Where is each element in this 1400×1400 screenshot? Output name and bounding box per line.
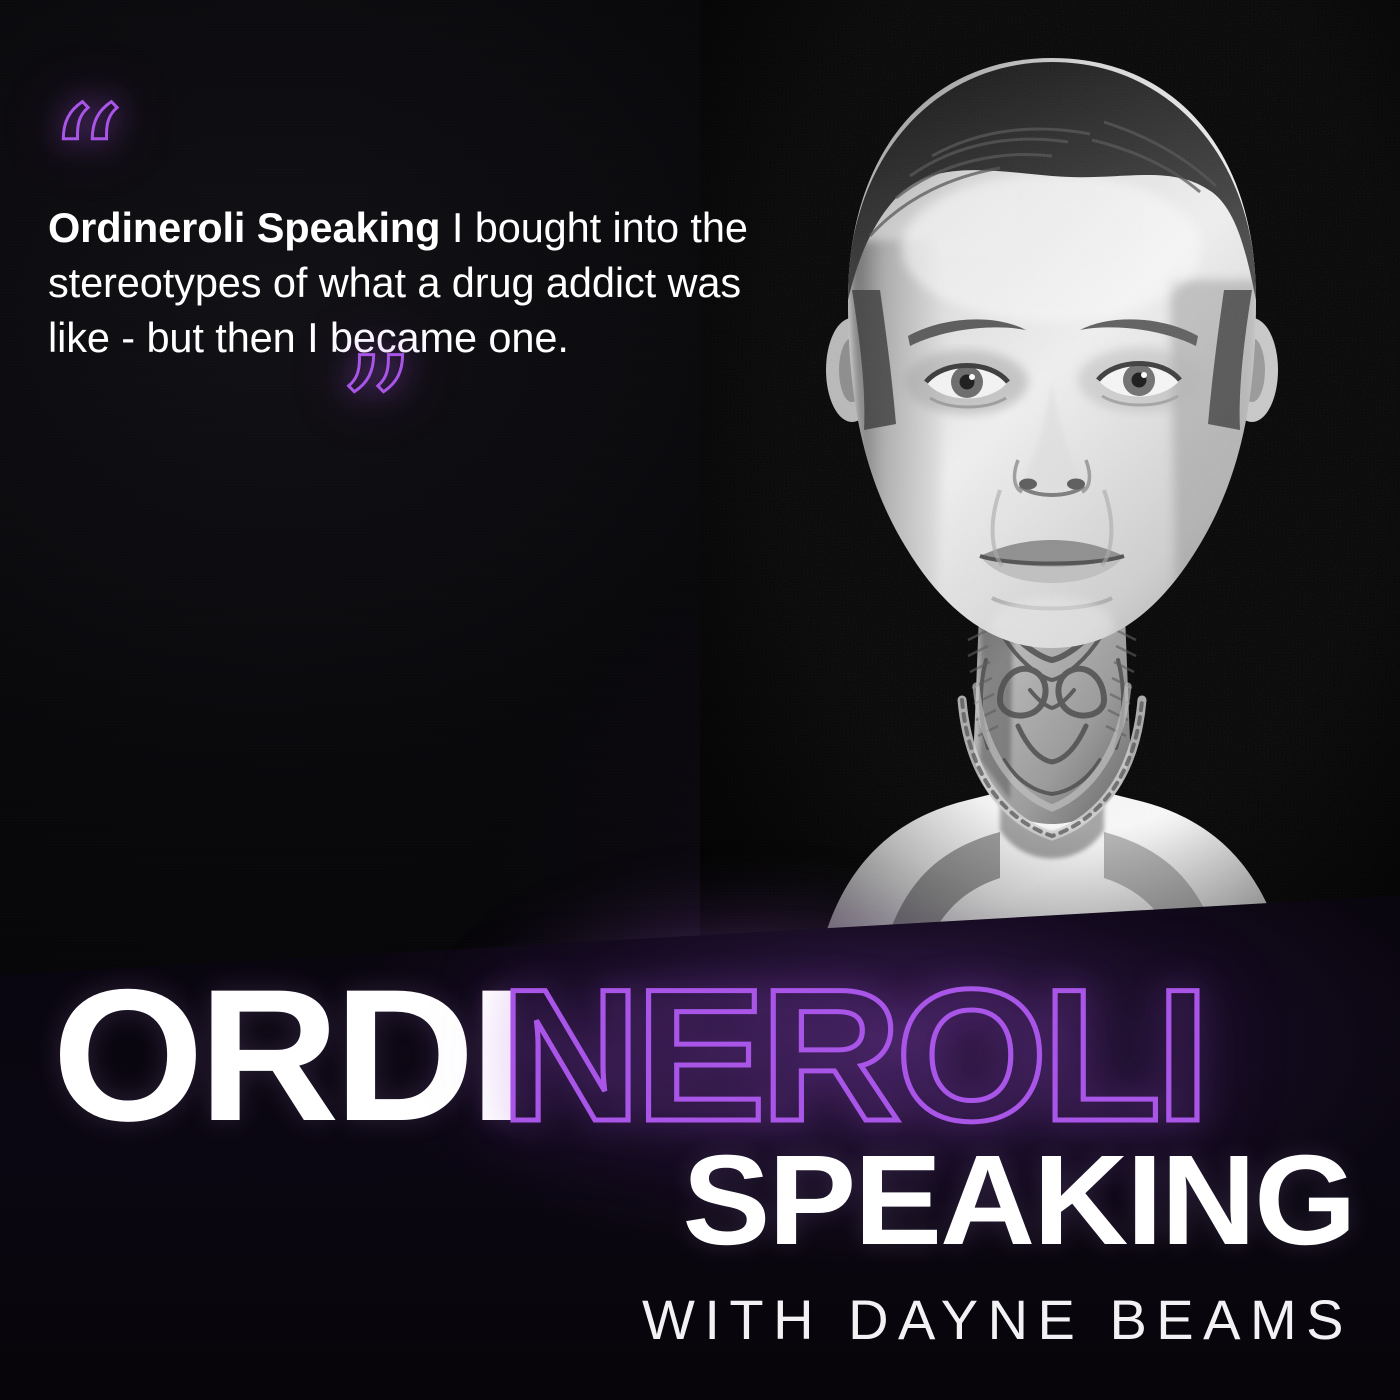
logo-subtitle: WITH DAYNE BEAMS bbox=[642, 1290, 1353, 1350]
logo-word-neroli: NEROLI bbox=[500, 960, 1204, 1150]
logo-word-ordi: ORDI bbox=[52, 960, 518, 1150]
logo-title-line-two: SPEAKING bbox=[683, 1136, 1355, 1266]
quote-text: Ordineroli Speaking I bought into the st… bbox=[48, 200, 793, 365]
open-quote-icon: “ bbox=[48, 108, 808, 200]
logo-title-line-one: ORDINEROLI bbox=[52, 960, 1352, 1150]
logo-lockup: ORDINEROLI SPEAKING WITH DAYNE BEAMS bbox=[0, 960, 1400, 1400]
podcast-cover-art: “ Ordineroli Speaking I bought into the … bbox=[0, 0, 1400, 1400]
close-quote-icon: ” bbox=[48, 359, 808, 449]
quote-block: “ Ordineroli Speaking I bought into the … bbox=[48, 108, 808, 449]
